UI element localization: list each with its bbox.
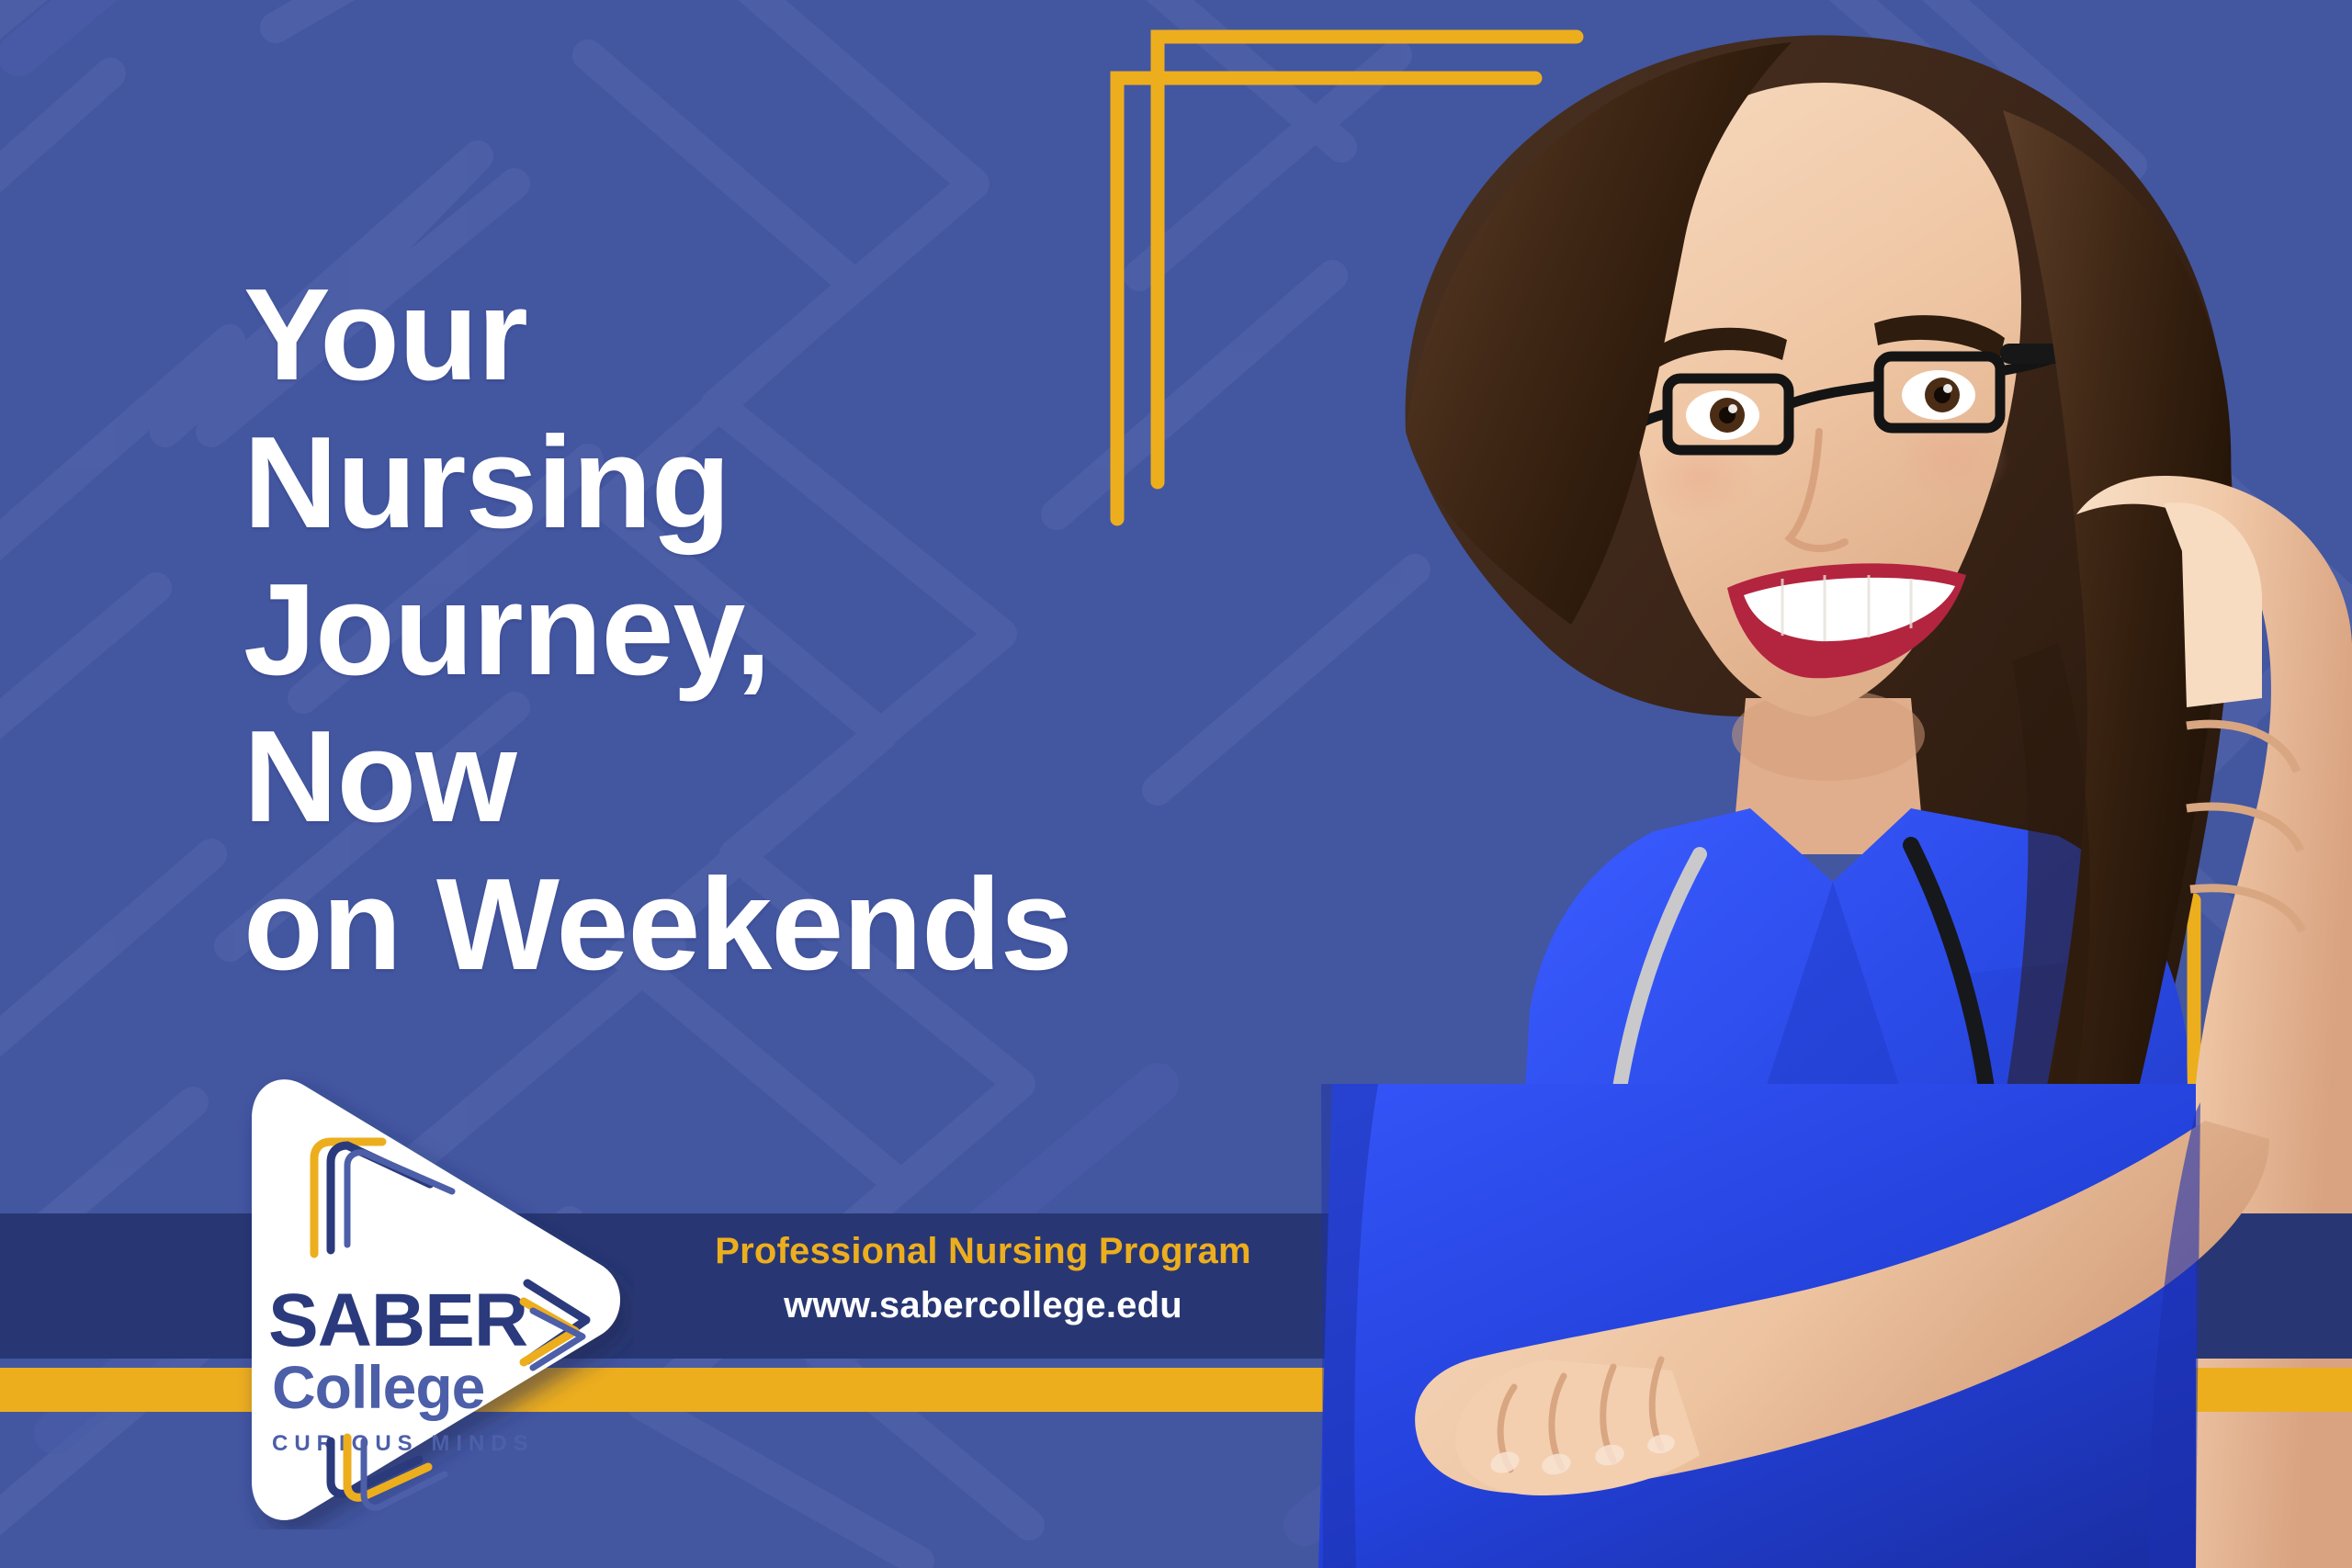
promotional-poster: Your Nursing Journey, Now on Weekends SA… — [0, 0, 2352, 1568]
footer-info: Professional Nursing Program www.saberco… — [707, 1231, 1259, 1326]
website-url[interactable]: www.sabercollege.edu — [707, 1285, 1259, 1326]
logo-brand-secondary: College — [272, 1353, 484, 1421]
nurse-photo-foreground — [1268, 1084, 2352, 1568]
saber-college-logo[interactable]: SABER College CURIOUS MINDS — [211, 1070, 634, 1529]
logo-brand-primary: SABER — [268, 1279, 527, 1362]
page-title: Your Nursing Journey, Now on Weekends — [243, 262, 1072, 998]
program-label: Professional Nursing Program — [707, 1231, 1259, 1272]
logo-tagline: CURIOUS MINDS — [272, 1431, 535, 1456]
